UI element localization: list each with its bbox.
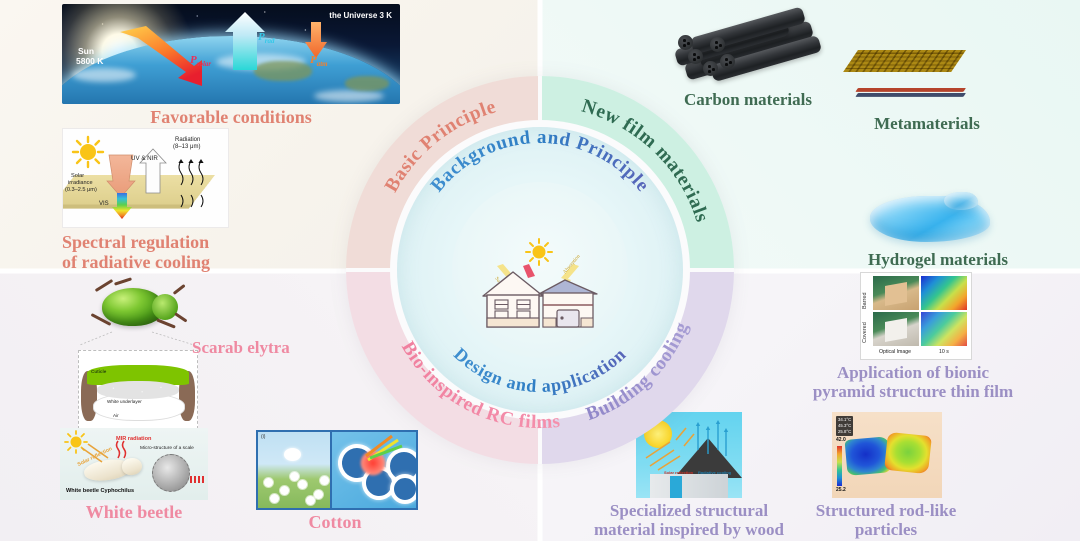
- colorbar-min-label: 25.2: [836, 487, 846, 493]
- sun-icon: [526, 239, 552, 265]
- p-atm-label: Patm: [310, 54, 328, 68]
- time-column-label: 10 s: [939, 349, 949, 355]
- white-underlayer: [97, 381, 179, 399]
- caption-hydrogel-materials: Hydrogel materials: [848, 250, 1028, 269]
- thermal-colorbar: [837, 446, 842, 486]
- p-solar-label: Psolar: [190, 54, 211, 68]
- subpanel-index-label: (i): [261, 434, 265, 440]
- bionic-pyramid-thermal-image: Barred Covered Optical Image 10 s: [860, 272, 972, 360]
- beetle-antenna: [173, 284, 186, 295]
- optical-image-covered: [873, 312, 919, 346]
- air-label: Air: [113, 413, 119, 418]
- solar-reflection-inset-label: Solar reflection: [664, 470, 693, 475]
- house-illustration: Solar reflection Absorption: [465, 238, 615, 334]
- vis-label: VIS: [99, 201, 109, 207]
- microstructure-label: Micro-structure of a scale: [140, 446, 194, 451]
- panel-hydrogel-materials: Hydrogel materials: [848, 190, 1013, 269]
- cotton-boll: [284, 448, 301, 461]
- rod-end: [703, 61, 718, 76]
- beetle-leg: [114, 277, 132, 285]
- hydrogel-blob-highlight: [944, 192, 978, 210]
- optical-image-barred: [873, 276, 919, 310]
- caption-cotton: Cotton: [256, 512, 414, 532]
- beetle-leg: [95, 279, 114, 292]
- beetle-head: [152, 294, 178, 320]
- zoom-callout-lines: [78, 330, 202, 346]
- caption-wood-inspired-line2: material inspired by wood: [584, 520, 794, 539]
- row-label-covered: Covered: [862, 311, 868, 343]
- solar-irradiance-label-line1: Solar: [71, 173, 84, 179]
- scarab-elytra-image: Cuticle White underlayer Air: [78, 350, 198, 434]
- colorbar-max-label: 42.0: [836, 437, 846, 443]
- spectral-arrows: [63, 129, 228, 227]
- radiation-label: Radiation: [175, 137, 200, 143]
- panel-spectral-regulation: Solar irradiance (0.3–2.5 μm) UV & NIR R…: [62, 128, 262, 272]
- sun-label: Sun: [78, 46, 94, 56]
- caption-white-beetle: White beetle: [60, 502, 208, 522]
- thermal-reading-2: 45.3°C: [838, 423, 851, 429]
- optical-image-column-label: Optical Image: [879, 349, 911, 355]
- rod-end: [720, 54, 735, 69]
- caption-wood-inspired-line1: Specialized structural: [584, 501, 794, 520]
- rod-end: [710, 37, 725, 52]
- scarab-beetle-image: [80, 278, 200, 336]
- species-label: White beetle Cyphochilus: [66, 488, 134, 494]
- particle-warm: [884, 432, 932, 474]
- hydrogel-blob-image: [848, 190, 1013, 248]
- metamaterial-array-image: [852, 48, 1002, 110]
- metamaterial-grid: [843, 50, 966, 72]
- caption-bionic-pyramid-line2: pyramid structure thin film: [798, 382, 1028, 401]
- rod-end: [688, 49, 703, 64]
- spectral-regulation-image: Solar irradiance (0.3–2.5 μm) UV & NIR R…: [62, 128, 229, 228]
- white-underlayer-label: White underlayer: [107, 399, 142, 404]
- caption-rod-like-particles-line1: Structured rod-like: [796, 501, 976, 520]
- caption-bionic-pyramid-line1: Application of bionic: [798, 363, 1028, 382]
- house-icon: Solar reflection Absorption: [465, 238, 615, 334]
- uv-nir-label: UV & NIR: [131, 155, 158, 162]
- thermal-image-barred: [921, 276, 967, 310]
- mir-radiation-label: MIR radiation: [116, 436, 151, 442]
- thermal-image-covered: [921, 312, 967, 346]
- cotton-field-photo: (i): [258, 432, 330, 508]
- row-label-barred: Barred: [862, 279, 868, 309]
- thermal-readout-box: 34.1°C 45.3°C 25.8°C: [836, 416, 853, 436]
- caption-spectral-regulation-line1: Spectral regulation: [62, 232, 262, 252]
- panel-scarab-elytra: Cuticle White underlayer Air: [80, 278, 200, 434]
- beetle-antenna: [174, 312, 187, 322]
- thermal-reading-3: 25.8°C: [838, 429, 851, 435]
- solar-irradiance-label-line2: irradiance: [68, 180, 93, 186]
- panel-white-beetle: Solar reflection MIR radiation Micro-str…: [60, 428, 208, 522]
- caption-metamaterials: Metamaterials: [852, 114, 1002, 133]
- sun-temperature-label: 5800 K: [76, 56, 103, 66]
- figure-canvas: Sun 5800 K the Universe 3 K Prad Psolar …: [0, 0, 1080, 541]
- radiation-range-label: (8–13 μm): [173, 144, 200, 150]
- concept-wheel: Basic Principle New film materials Bio-i…: [346, 76, 734, 464]
- caption-rod-like-particles-line2: particles: [796, 520, 976, 539]
- panel-bionic-pyramid: Barred Covered Optical Image 10 s Applic…: [860, 272, 1028, 401]
- panel-rod-like-particles: 34.1°C 45.3°C 25.8°C 42.0 25.2 Structure…: [832, 412, 976, 539]
- p-rad-label: Prad: [258, 31, 274, 45]
- particle-cold: [845, 436, 892, 476]
- universe-temperature-label: the Universe 3 K: [329, 11, 392, 20]
- solar-irradiance-range-label: (0.3–2.5 μm): [65, 187, 97, 193]
- rod-like-particles-thermal-image: 34.1°C 45.3°C 25.8°C 42.0 25.2: [832, 412, 942, 498]
- panel-metamaterials: Metamaterials: [852, 48, 1002, 133]
- cuticle-label: Cuticle: [91, 369, 106, 374]
- white-beetle-image: Solar reflection MIR radiation Micro-str…: [60, 428, 208, 500]
- radiative-cooling-inset-label: Radiative cooling: [698, 470, 731, 475]
- caption-scarab-elytra: Scarab elytra: [192, 338, 290, 357]
- caption-spectral-regulation-line2: of radiative cooling: [62, 252, 262, 272]
- rod-end: [678, 35, 693, 50]
